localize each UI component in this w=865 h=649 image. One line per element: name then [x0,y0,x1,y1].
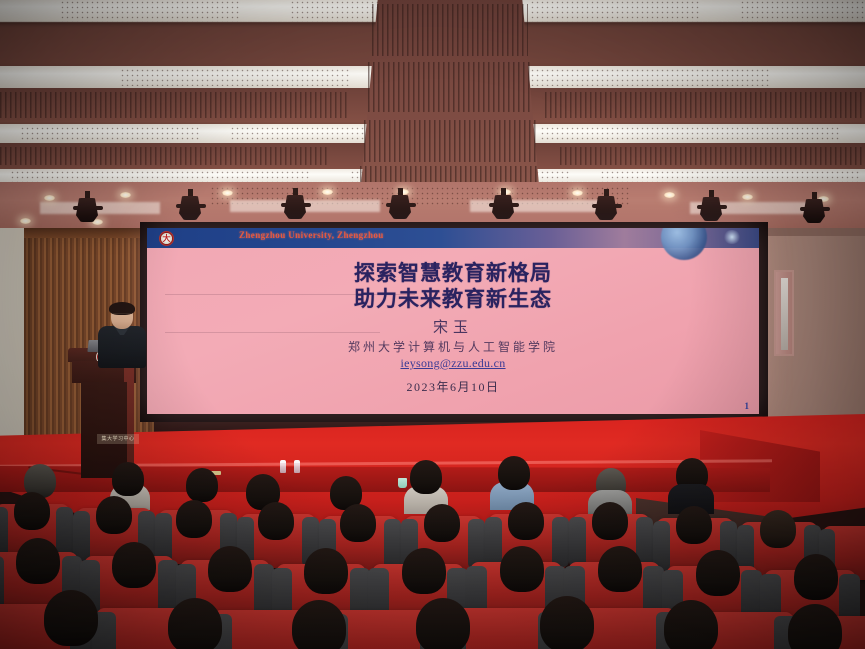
lecture-hall-photo: 大 Zhengzhou University, Zhengzhou 探索智慧教育… [0,0,865,649]
podium-plaque: 集大学习中心 [97,434,139,444]
audience-person [500,546,544,592]
audience-person [168,598,222,649]
beam-slot-texture [372,4,528,56]
acoustic-panel [540,126,840,142]
stage-spotlight-icon [697,195,727,225]
acoustic-panel [120,68,350,86]
audience-person [498,456,530,490]
audience-seating [0,452,865,649]
audience-person [186,468,218,502]
audience-person [760,510,796,548]
recessed-downlight-icon [44,195,55,201]
beam-slot-texture [545,92,865,118]
beam-slot-texture [368,62,532,112]
stage-spotlight-icon [73,196,103,226]
audience-person [402,548,446,594]
audience-person [14,492,50,530]
banner-glow [723,230,741,244]
audience-person [416,598,470,649]
audience-person [794,554,838,600]
presentation-slide: 大 Zhengzhou University, Zhengzhou 探索智慧教育… [147,228,759,414]
stage-spotlight-icon [281,193,311,223]
audience-person [508,502,544,540]
slide-affiliation: 郑州大学计算机与人工智能学院 [147,338,759,355]
stage-spotlight-icon [489,193,519,223]
beam-slot-texture [0,147,330,165]
audience-person [176,500,212,538]
beam-slot-texture [560,147,865,165]
stage-spotlight-icon [800,197,830,227]
audience-person [96,496,132,534]
speaker-person [96,304,148,364]
slide-banner: 大 Zhengzhou University, Zhengzhou [147,228,759,248]
acoustic-panel [740,0,865,22]
recessed-downlight-icon [222,190,233,196]
earth-globe-icon [661,228,707,260]
audience-person [292,600,346,649]
audience-person [208,546,252,592]
slide-title-line-1: 探索智慧教育新格局 [147,260,759,286]
slide-page-number: 1 [745,401,750,411]
acoustic-panel [60,0,240,22]
slide-author: 宋玉 [147,316,759,337]
beam-slot-texture [364,120,536,162]
slide-banner-text: Zhengzhou University, Zhengzhou [239,230,384,240]
audience-person [410,460,442,494]
recessed-downlight-icon [20,218,31,224]
audience-person [676,506,712,544]
audience-person [598,546,642,592]
auditorium-ceiling [0,0,865,232]
wood-panel-trim [24,228,154,238]
slide-email-link[interactable]: ieysong@zzu.edu.cn [147,356,759,371]
stage-spotlight-icon [592,194,622,224]
stage-spotlight-icon [176,194,206,224]
audience-person [112,462,144,496]
acoustic-panel [520,68,770,86]
acoustic-panel [530,0,700,22]
recessed-downlight-icon [120,192,131,198]
audience-person [592,502,628,540]
audience-person [696,550,740,596]
recessed-downlight-icon [664,192,675,198]
audience-person [258,502,294,540]
slide-date: 2023年6月10日 [147,378,759,395]
audience-person [664,600,718,649]
recessed-downlight-icon [572,190,583,196]
acoustic-panel [20,126,200,142]
eyeglasses-icon [112,313,132,319]
beam-slot-texture [0,92,350,118]
audience-person [112,542,156,588]
seal-mark: 大 [163,235,171,243]
stage-spotlight-icon [386,193,416,223]
wall-panel-fixture-icon [774,270,794,356]
slide-title-line-2: 助力未来教育新生态 [147,286,759,312]
audience-person [16,538,60,584]
audience-person [424,504,460,542]
right-wall-trim [763,228,865,236]
university-seal-icon: 大 [159,231,174,246]
audience-person [44,590,98,646]
audience-person [340,504,376,542]
recessed-downlight-icon [742,194,753,200]
recessed-downlight-icon [322,189,333,195]
audience-person [540,596,594,649]
slide-title: 探索智慧教育新格局 助力未来教育新生态 [147,260,759,312]
audience-person [304,548,348,594]
